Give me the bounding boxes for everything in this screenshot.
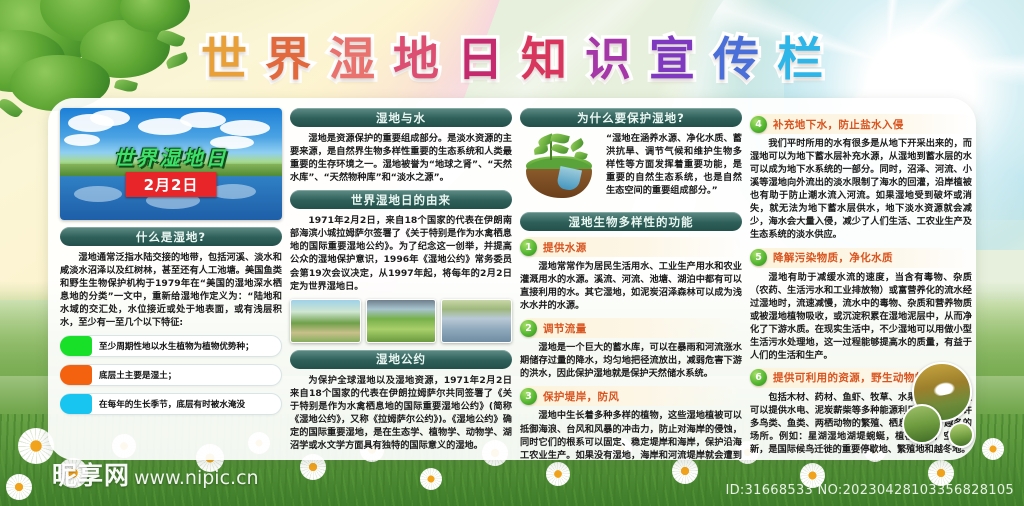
daisy-flower [546, 462, 570, 486]
title-char-8: 传 [713, 36, 759, 82]
item-body: 湿地有助于减缓水流的速度，当含有毒物、杂质（农药、生活污水和工业排放物）或富营养… [750, 271, 972, 362]
bullet-item: 在每年的生长季节，底层有时被水淹没 [60, 393, 282, 415]
hero-headline: 世界湿地日 [60, 142, 282, 171]
bullet-item: 至少周期性地以水生植物为植物优势种； [60, 335, 282, 357]
title-char-9: 栏 [777, 36, 823, 82]
thumbnail-wetland-village [366, 299, 437, 343]
column-3: 为什么要保护湿地? “湿地在涵养水源、净化水质、蓄洪抗旱、调节气候和维护生物多样… [520, 108, 742, 450]
column-4: 4补充地下水，防止盐水入侵我们平时所用的水有很多是从地下开采出来的，而湿地可以为… [750, 108, 972, 450]
watermark-brand: 昵享网 [52, 456, 130, 492]
numbered-item-header: 1提供水源 [520, 237, 742, 257]
hero-date-badge: 2月2日 [126, 172, 217, 197]
thumbnail-wetland-delta [290, 299, 361, 343]
item-number-badge: 5 [750, 249, 767, 266]
daisy-flower [6, 474, 32, 500]
title-char-0: 世 [201, 36, 247, 82]
page-title: 世界湿地日知识宣传栏 [0, 36, 1024, 82]
bullet-color-chip [60, 394, 92, 414]
item-title: 降解污染物质，净化水质 [773, 250, 893, 265]
title-char-3: 地 [393, 36, 439, 82]
item-number-badge: 3 [520, 388, 537, 405]
paragraph-origin-of-day: 1971年2月2日，来自18个国家的代表在伊朗南部海滨小城拉姆萨尔签署了《关于特… [290, 214, 512, 292]
daisy-flower [420, 468, 442, 490]
item-title: 补充地下水，防止盐水入侵 [773, 117, 904, 132]
title-char-1: 界 [265, 36, 311, 82]
item-body: 湿地是一个巨大的蓄水库，可以在暴雨和河流涨水期储存过量的降水，均匀地把径流放出，… [520, 341, 742, 380]
image-id-line: ID:31668533 NO:20230428103356828105 [725, 483, 1014, 498]
item-body: 湿地中生长着多种多样的植物，这些湿地植被可以抵御海浪、台风和风暴的冲击力，防止对… [520, 409, 742, 460]
section-header-origin-of-day: 世界湿地日的由来 [290, 190, 512, 209]
item-body: 我们平时所用的水有很多是从地下开采出来的，而湿地可以为地下蓄水层补充水源，从湿地… [750, 137, 972, 242]
column-2: 湿地与水 湿地是资源保护的重要组成部分。是淡水资源的主要来源，是自然界生物多样性… [290, 108, 512, 450]
thumbnail-wetland-marsh [441, 299, 512, 343]
item-title: 提供水源 [543, 240, 587, 255]
section-header-ramsar-convention: 湿地公约 [290, 350, 512, 369]
why-protect-block: “湿地在涵养水源、净化水质、蓄洪抗旱、调节气候和维护生物多样性等方面发挥着重要功… [520, 132, 742, 206]
paragraph-what-is-wetland: 湿地通常泛指水陆交接的地带，包括河溪、淡水和咸淡水沼泽以及红树林，甚至还有人工池… [60, 251, 282, 329]
paragraph-ramsar-convention: 为保护全球湿地以及湿地资源，1971年2月2日来自18个国家的代表在伊朗拉姆萨尔… [290, 374, 512, 452]
numbered-item-header: 4补充地下水，防止盐水入侵 [750, 114, 972, 134]
content-card: 世界湿地日 2月2日 什么是湿地? 湿地通常泛指水陆交接的地带，包括河溪、淡水和… [48, 98, 976, 460]
circle-photo-wetland-small [948, 422, 974, 448]
column-1: 世界湿地日 2月2日 什么是湿地? 湿地通常泛指水陆交接的地带，包括河溪、淡水和… [60, 108, 282, 450]
item-number-badge: 6 [750, 369, 767, 386]
watermark: 昵享网 www.nipic.cn [52, 456, 259, 492]
paragraph-why-protect: “湿地在涵养水源、净化水质、蓄洪抗旱、调节气候和维护生物多样性等方面发挥着重要功… [606, 132, 742, 206]
bullet-label: 底层土主要是湿土； [99, 369, 176, 381]
item-number-badge: 4 [750, 116, 767, 133]
daisy-flower [672, 458, 698, 484]
numbered-item-header: 3保护堤岸，防风 [520, 386, 742, 406]
title-char-5: 知 [521, 36, 567, 82]
numbered-items-col3: 1提供水源湿地常常作为居民生活用水、工业生产用水和农业灌溉用水的水源。溪流、河流… [520, 237, 742, 460]
title-char-7: 宣 [649, 36, 695, 82]
title-char-2: 湿 [329, 36, 375, 82]
numbered-item-header: 5降解污染物质，净化水质 [750, 248, 972, 268]
section-header-why-protect: 为什么要保护湿地? [520, 108, 742, 127]
section-header-biodiversity-functions: 湿地生物多样性的功能 [520, 212, 742, 231]
item-title: 保护堤岸，防风 [543, 389, 619, 404]
daisy-flower [982, 438, 1004, 460]
bullet-label: 在每年的生长季节，底层有时被水淹没 [99, 398, 245, 410]
section-header-wetland-and-water: 湿地与水 [290, 108, 512, 127]
circle-photo-wetland-green [902, 404, 942, 444]
bullet-label: 至少周期性地以水生植物为植物优势种； [99, 340, 254, 352]
bullet-color-chip [60, 365, 92, 385]
numbered-item-header: 2调节流量 [520, 318, 742, 338]
hero-banner-image: 世界湿地日 2月2日 [60, 108, 282, 220]
bullet-list: 至少周期性地以水生植物为植物优势种；底层土主要是湿土；在每年的生长季节，底层有时… [60, 335, 282, 415]
section-header-what-is-wetland: 什么是湿地? [60, 227, 282, 246]
title-char-4: 日 [457, 36, 503, 82]
paragraph-wetland-and-water: 湿地是资源保护的重要组成部分。是淡水资源的主要来源，是自然界生物多样性重要的生态… [290, 132, 512, 184]
title-char-6: 识 [585, 36, 631, 82]
item-body: 湿地常常作为居民生活用水、工业生产用水和农业灌溉用水的水源。溪流、河流、池塘、湖… [520, 260, 742, 312]
bullet-item: 底层土主要是湿土； [60, 364, 282, 386]
circle-photo-cluster [884, 362, 976, 454]
eco-island-icon [520, 132, 600, 206]
item-number-badge: 1 [520, 239, 537, 256]
item-number-badge: 2 [520, 320, 537, 337]
item-title: 调节流量 [543, 321, 587, 336]
watermark-domain: www.nipic.cn [134, 467, 259, 489]
bullet-color-chip [60, 336, 92, 356]
thumbnail-row [290, 299, 512, 343]
